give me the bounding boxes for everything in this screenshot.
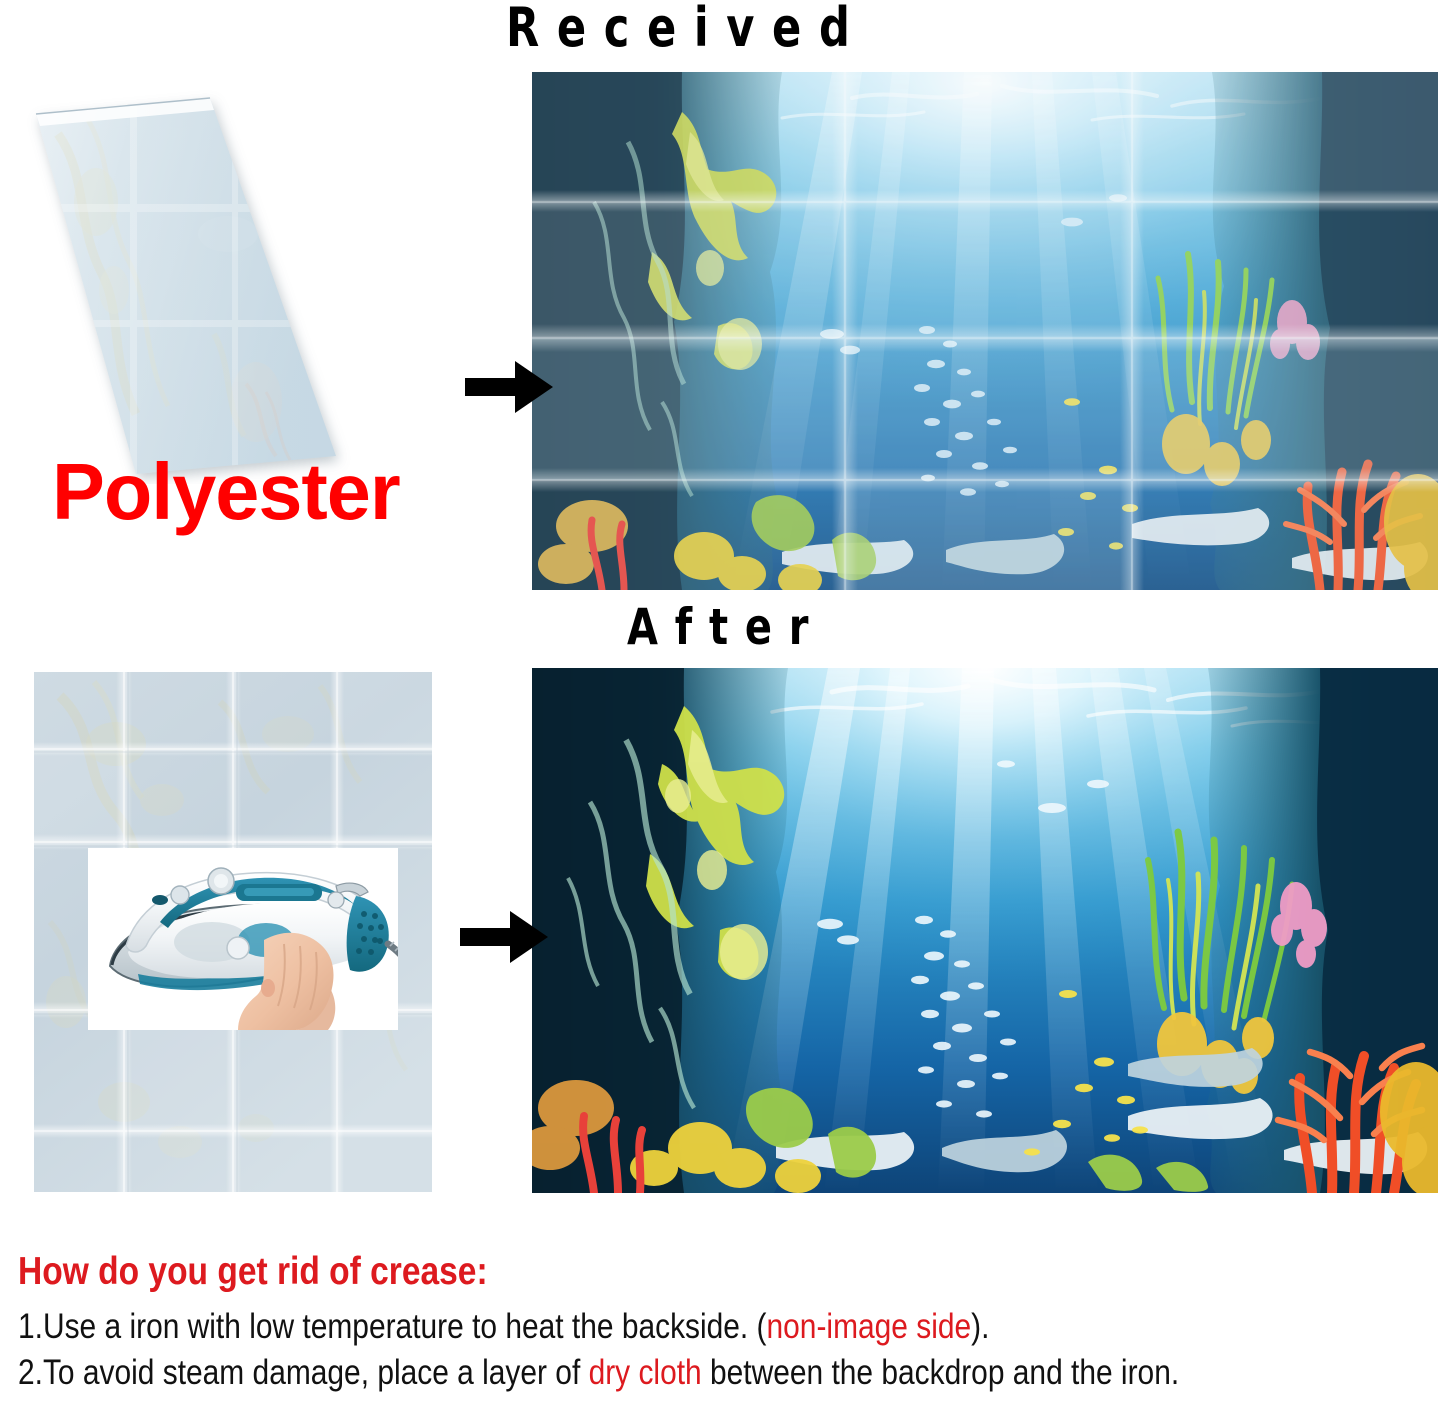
care-line-2-number: 2. — [18, 1353, 43, 1392]
steam-iron-photo — [88, 848, 398, 1030]
care-line-2-post: between the backdrop and the iron. — [702, 1353, 1179, 1392]
care-line-1-number: 1. — [18, 1307, 43, 1346]
arrow-right-icon — [458, 908, 550, 966]
arrow-right-icon — [463, 358, 555, 416]
care-line-2-pre: To avoid steam damage, place a layer of — [43, 1353, 589, 1392]
received-backdrop-photo — [532, 72, 1438, 590]
care-instructions: How do you get rid of crease: 1.Use a ir… — [18, 1252, 1428, 1399]
care-heading: How do you get rid of crease: — [18, 1252, 1231, 1293]
material-label: Polyester — [52, 452, 400, 532]
folded-fabric-sample — [18, 84, 438, 484]
received-title: Received — [506, 0, 867, 59]
after-title: After — [627, 598, 825, 656]
care-line-1-post: ). — [971, 1307, 989, 1346]
care-line-2-highlight: dry cloth — [589, 1353, 702, 1392]
care-line-1-highlight: non-image side — [767, 1307, 972, 1346]
care-line-1-pre: Use a iron with low temperature to heat … — [43, 1307, 767, 1346]
care-line-2: 2.To avoid steam damage, place a layer o… — [18, 1352, 1224, 1393]
care-line-1: 1.Use a iron with low temperature to hea… — [18, 1306, 1224, 1347]
after-backdrop-photo — [532, 668, 1438, 1193]
